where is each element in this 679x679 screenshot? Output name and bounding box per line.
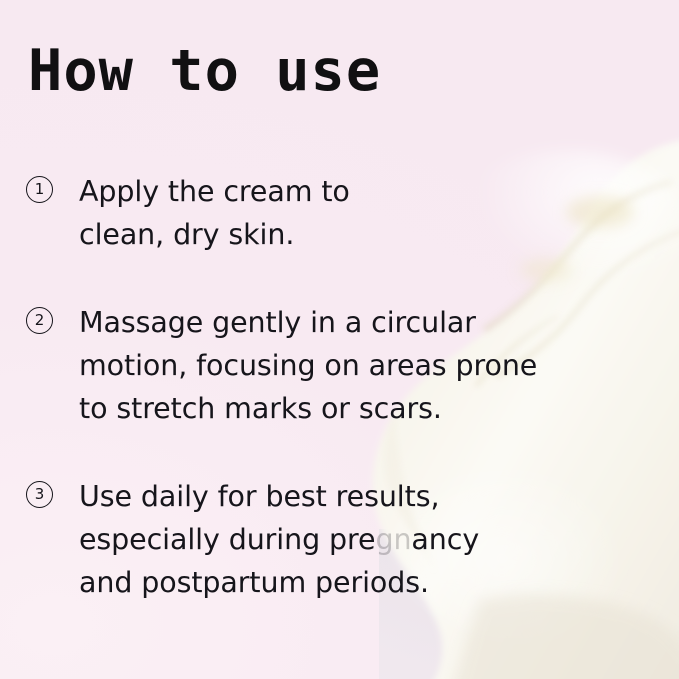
steps-list: 1 Apply the cream to clean, dry skin. 2 … <box>26 170 646 604</box>
step-3-line-3: and postpartum periods. <box>79 561 646 604</box>
step-2-line-2: motion, focusing on areas prone <box>79 344 646 387</box>
list-item-step-3: 3 Use daily for best results, especially… <box>26 475 646 604</box>
step-1-line-2: clean, dry skin. <box>79 213 646 256</box>
step-3-line-2-after: ancy <box>411 523 479 556</box>
list-item-step-2: 2 Massage gently in a circular motion, f… <box>26 301 646 430</box>
step-1-line-1: Apply the cream to <box>79 170 646 213</box>
list-item-step-1: 1 Apply the cream to clean, dry skin. <box>26 170 646 256</box>
page-title: How to use <box>28 42 381 102</box>
step-number-circle-icon: 1 <box>26 176 53 203</box>
step-2-text: Massage gently in a circular motion, foc… <box>79 301 646 430</box>
step-number-circle-icon: 2 <box>26 307 53 334</box>
step-2-line-3: to stretch marks or scars. <box>79 387 646 430</box>
step-3-line-2: especially during pregnancy <box>79 518 646 561</box>
step-3-text: Use daily for best results, especially d… <box>79 475 646 604</box>
step-2-line-1: Massage gently in a circular <box>79 301 646 344</box>
step-1-text: Apply the cream to clean, dry skin. <box>79 170 646 256</box>
step-number-circle-icon: 3 <box>26 481 53 508</box>
how-to-use-card: How to use 1 Apply the cream to clean, d… <box>0 0 679 679</box>
step-3-line-1: Use daily for best results, <box>79 475 646 518</box>
step-3-line-2-before: especially during pre <box>79 523 375 556</box>
step-3-line-2-faded-glyphs: gn <box>375 523 411 556</box>
